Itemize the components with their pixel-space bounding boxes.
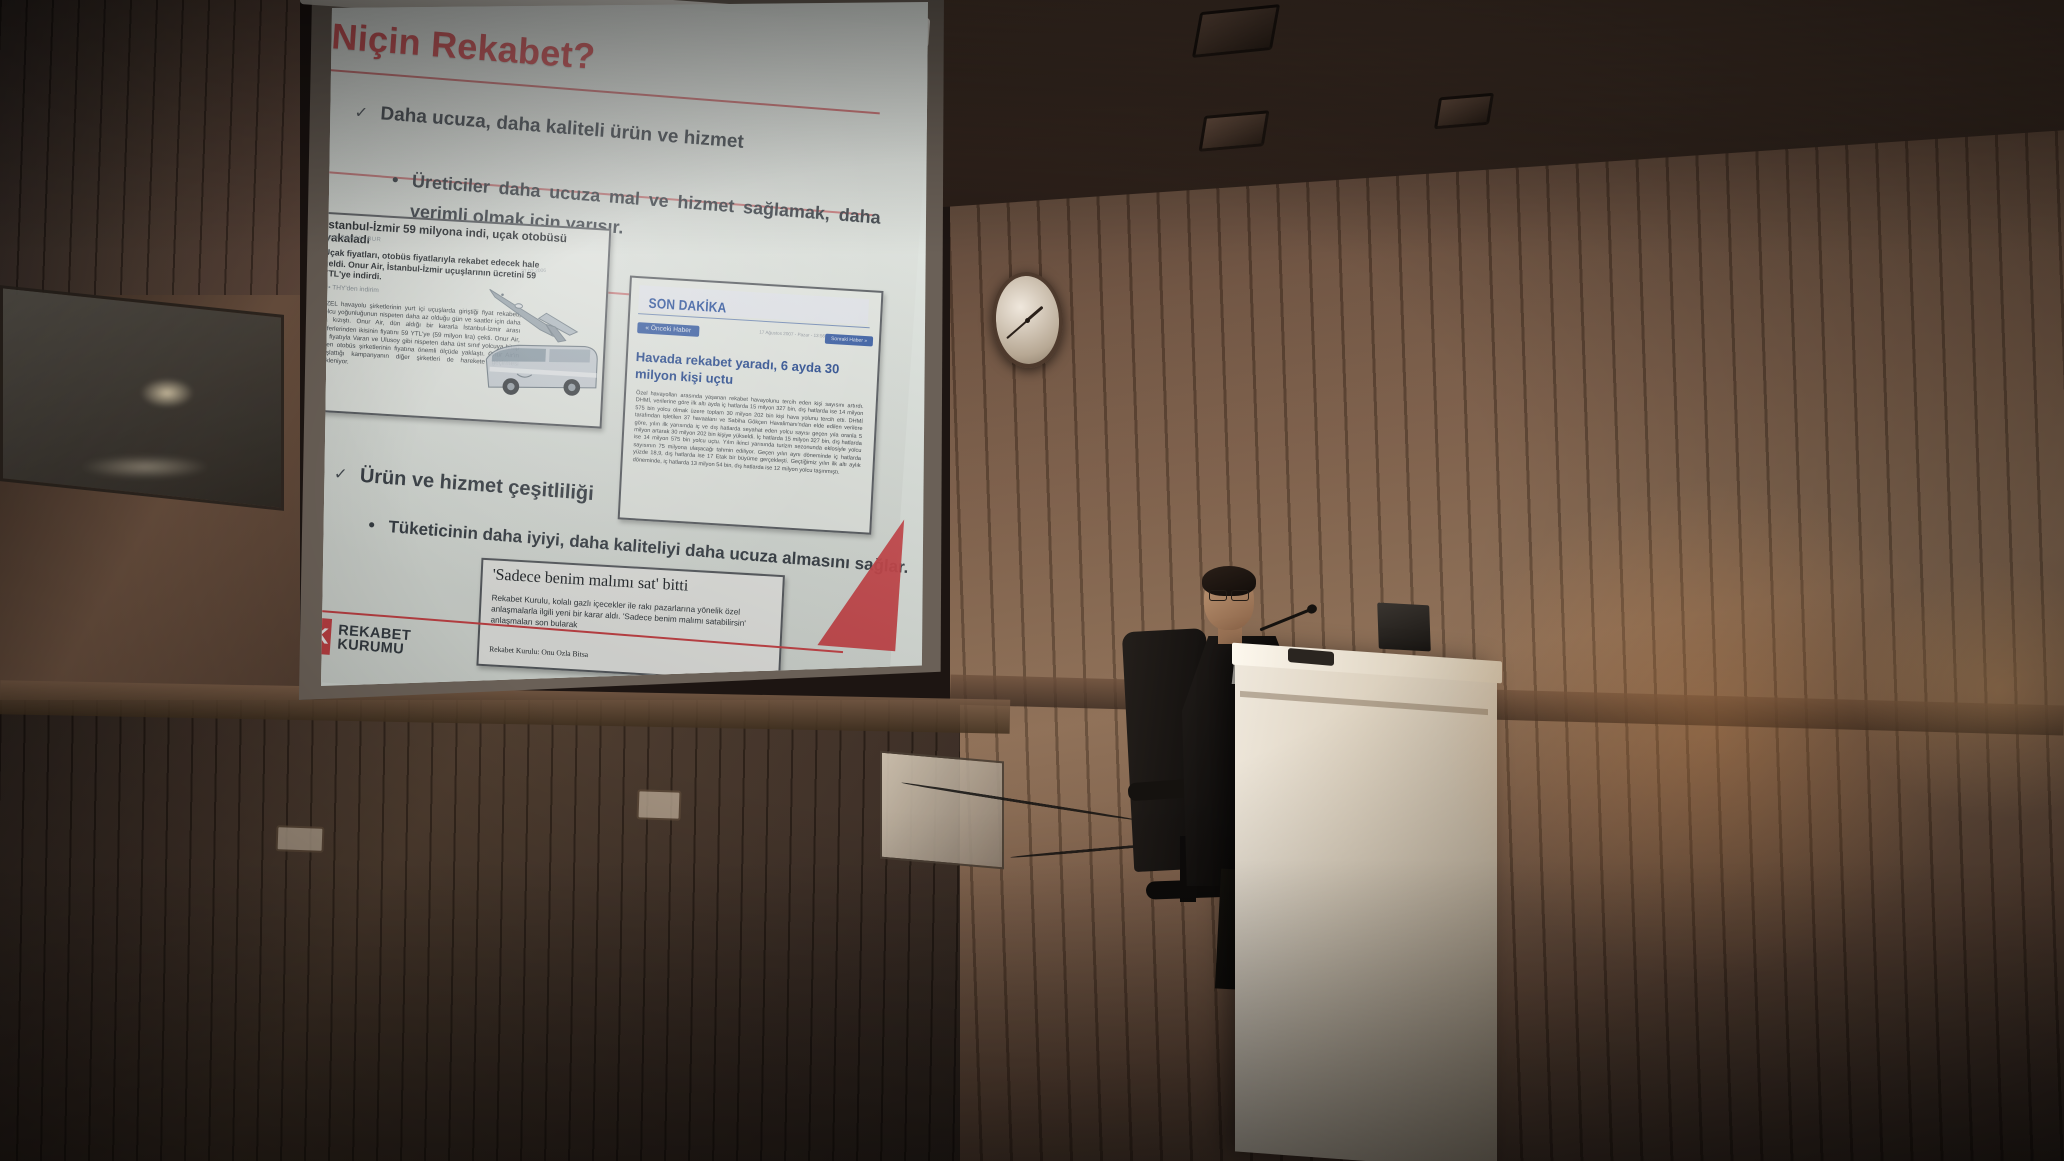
red-corner-accent <box>817 513 904 651</box>
wall-socket <box>636 789 681 821</box>
lower-wall-paneling <box>0 700 960 1161</box>
clipping-bottom-footer: Rekabet Kurulu: Onu Ozla Bitsa <box>489 644 739 667</box>
newspaper-clipping-right: SON DAKİKA « Önceki Haber 17 Ağustos 200… <box>618 276 884 535</box>
next-article-button[interactable]: Sonraki Haber » <box>825 334 874 347</box>
ceiling-vent-icon <box>1199 110 1270 151</box>
podium <box>1235 645 1497 1161</box>
checkmark-icon: ✓ <box>333 464 348 485</box>
bus-icon <box>479 327 602 408</box>
bullet-1-text: Daha ucuza, daha kaliteli ürün ve hizmet <box>380 103 745 153</box>
ceiling-vent-icon <box>1192 4 1280 58</box>
wall-socket <box>276 825 325 853</box>
bullet-dot-icon: • <box>368 515 376 536</box>
whiteboard-glare <box>80 455 210 479</box>
ceiling-vent-icon <box>1434 93 1494 130</box>
projected-slide: Niçin Rekabet? ✓ Daha ucuza, daha kalite… <box>318 2 928 686</box>
clipping-left-subhead: • THY'den indirim <box>328 284 379 294</box>
rekabet-kurumu-logo: RK REKABET KURUMU <box>318 616 412 661</box>
son-dakika-label: SON DAKİKA <box>648 295 727 316</box>
clipping-right-body: Özel havayolları arasında yaşanan rekabe… <box>632 390 863 478</box>
floor-equipment-box <box>880 751 1004 870</box>
newspaper-clipping-left: İstanbul-İzmir 59 milyona indi, uçak oto… <box>318 211 611 428</box>
son-dakika-banner: SON DAKİKA <box>638 285 869 325</box>
bullet-dot-icon: • <box>391 164 399 194</box>
lecture-hall-scene: Niçin Rekabet? ✓ Daha ucuza, daha kalite… <box>0 0 2064 1161</box>
whiteboard-glare <box>140 378 194 408</box>
bullet-1: ✓ Daha ucuza, daha kaliteli ürün ve hizm… <box>380 103 745 154</box>
bullet-3-text: Ürün ve hizmet çeşitliliği <box>359 465 594 505</box>
previous-article-button[interactable]: « Önceki Haber <box>637 322 699 337</box>
newspaper-clipping-bottom: 'Sadece benim malımı sat' bitti Rekabet … <box>476 558 785 683</box>
bullet-3: ✓ Ürün ve hizmet çeşitliliği <box>359 465 594 506</box>
logo-line-2: KURUMU <box>337 637 411 657</box>
glasses-icon <box>1209 590 1249 599</box>
laptop-on-podium <box>1377 603 1431 652</box>
clipping-right-date: 17 Ağustos 2007 - Pazar - 13:56 <box>759 330 825 339</box>
slide-title: Niçin Rekabet? <box>330 15 596 78</box>
checkmark-icon: ✓ <box>354 102 369 123</box>
clock-center-pin <box>1025 317 1030 322</box>
clipping-right-headline: Havada rekabet yaradı, 6 ayda 30 milyon … <box>635 348 864 396</box>
